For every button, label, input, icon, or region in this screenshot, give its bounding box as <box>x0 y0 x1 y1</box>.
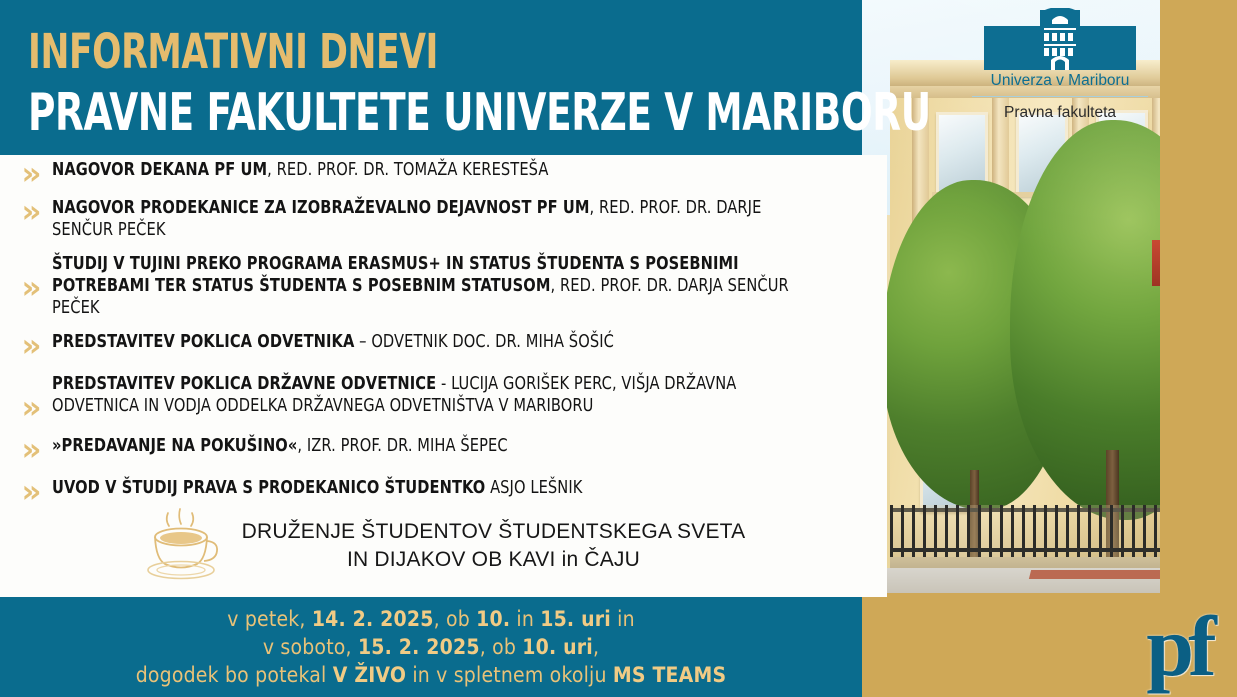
list-item: » ŠTUDIJ V TUJINI PREKO PROGRAMA ERASMUS… <box>0 253 887 319</box>
list-item: » PREDSTAVITEV POKLICA DRŽAVNE ODVETNICE… <box>0 373 887 423</box>
list-item: » NAGOVOR DEKANA PF UM, RED. PROF. DR. T… <box>0 159 887 189</box>
footer-line-1: v petek, 14. 2. 2025, ob 10. in 15. uri … <box>227 605 635 633</box>
list-item: » PREDSTAVITEV POKLICA ODVETNIKA – ODVET… <box>0 331 887 361</box>
list-item-bold: PREDSTAVITEV POKLICA DRŽAVNE ODVETNICE <box>52 374 436 394</box>
list-item-rest: , RED. PROF. DR. TOMAŽA KERESTEŠA <box>267 160 548 180</box>
list-item-text: PREDSTAVITEV POKLICA DRŽAVNE ODVETNICE -… <box>52 373 821 417</box>
university-building-mark <box>984 8 1136 70</box>
footer-date-saturday: 15. 2. 2025 <box>358 635 480 659</box>
university-name: Univerza v Mariboru <box>960 71 1160 91</box>
list-item: » NAGOVOR PRODEKANICE ZA IZOBRAŽEVALNO D… <box>0 197 887 241</box>
poster: INFORMATIVNI DNEVI PRAVNE FAKULTETE UNIV… <box>0 0 1237 697</box>
footer-live-label: V ŽIVO <box>333 663 406 687</box>
double-chevron-icon: » <box>8 331 52 361</box>
list-item-bold: NAGOVOR PRODEKANICE ZA IZOBRAŽEVALNO DEJ… <box>52 198 590 218</box>
program-list: » NAGOVOR DEKANA PF UM, RED. PROF. DR. T… <box>0 159 887 515</box>
list-item: » »PREDAVANJE NA POKUŠINO«, IZR. PROF. D… <box>0 435 887 465</box>
list-item: » UVOD V ŠTUDIJ PRAVA S PRODEKANICO ŠTUD… <box>0 477 887 507</box>
list-item-text: NAGOVOR PRODEKANICE ZA IZOBRAŽEVALNO DEJ… <box>52 197 821 241</box>
footer-time-10: 10. <box>476 607 510 631</box>
social-line-2: IN DIJAKOV OB KAVI in ČAJU <box>242 546 746 574</box>
university-logo: Univerza v Mariboru Pravna fakulteta <box>960 8 1160 130</box>
double-chevron-icon: » <box>8 477 52 507</box>
faculty-name: Pravna fakulteta <box>960 103 1160 122</box>
page-title-line1: INFORMATIVNI DNEVI <box>28 27 438 77</box>
social-line-1: DRUŽENJE ŠTUDENTOV ŠTUDENTSKEGA SVETA <box>242 518 746 546</box>
list-item-text: NAGOVOR DEKANA PF UM, RED. PROF. DR. TOM… <box>52 159 821 181</box>
list-item-bold: PREDSTAVITEV POKLICA ODVETNIKA <box>52 332 354 352</box>
header-banner: INFORMATIVNI DNEVI PRAVNE FAKULTETE UNIV… <box>0 0 862 155</box>
list-item-bold: UVOD V ŠTUDIJ PRAVA S PRODEKANICO ŠTUDEN… <box>52 478 485 498</box>
program-panel: » NAGOVOR DEKANA PF UM, RED. PROF. DR. T… <box>0 155 887 597</box>
footer-banner: v petek, 14. 2. 2025, ob 10. in 15. uri … <box>0 597 862 697</box>
page-title-line2: PRAVNE FAKULTETE UNIVERZE V MARIBORU <box>28 86 931 140</box>
footer-line-2: v soboto, 15. 2. 2025, ob 10. uri, <box>263 633 599 661</box>
footer-text: , <box>593 635 599 659</box>
list-item-text: ŠTUDIJ V TUJINI PREKO PROGRAMA ERASMUS+ … <box>52 253 821 319</box>
footer-time-10-sat: 10. uri <box>522 635 593 659</box>
social-gathering-block: DRUŽENJE ŠTUDENTOV ŠTUDENTSKEGA SVETA IN… <box>0 507 887 585</box>
footer-text: in v spletnem okolju <box>406 663 613 687</box>
list-item-rest: ASJO LEŠNIK <box>485 478 582 498</box>
double-chevron-icon: » <box>8 197 52 227</box>
footer-date-friday: 14. 2. 2025 <box>312 607 434 631</box>
list-item-bold: »PREDAVANJE NA POKUŠINO« <box>52 436 297 456</box>
list-item-rest: , IZR. PROF. DR. MIHA ŠEPEC <box>297 436 507 456</box>
gold-right-strip <box>1160 0 1237 593</box>
footer-line-3: dogodek bo potekal V ŽIVO in v spletnem … <box>136 661 727 689</box>
footer-text: , ob <box>434 607 477 631</box>
footer-text: v petek, <box>227 607 312 631</box>
footer-text: in <box>611 607 635 631</box>
footer-time-15: 15. uri <box>540 607 611 631</box>
pf-monogram-logo: pf <box>1120 596 1237 697</box>
double-chevron-icon: » <box>8 373 52 423</box>
double-chevron-icon: » <box>8 253 52 303</box>
footer-text: dogodek bo potekal <box>136 663 333 687</box>
footer-teams-label: MS TEAMS <box>613 663 726 687</box>
logo-divider <box>972 96 1148 97</box>
footer-text: , ob <box>480 635 523 659</box>
footer-text: in <box>510 607 540 631</box>
footer-text: v soboto, <box>263 635 358 659</box>
double-chevron-icon: » <box>8 435 52 465</box>
list-item-rest: – ODVETNIK DOC. DR. MIHA ŠOŠIĆ <box>354 332 614 352</box>
coffee-cup-icon <box>142 507 224 585</box>
double-chevron-icon: » <box>8 159 52 189</box>
list-item-bold: NAGOVOR DEKANA PF UM <box>52 160 267 180</box>
social-gathering-text: DRUŽENJE ŠTUDENTOV ŠTUDENTSKEGA SVETA IN… <box>242 518 746 574</box>
list-item-text: »PREDAVANJE NA POKUŠINO«, IZR. PROF. DR.… <box>52 435 821 457</box>
list-item-text: PREDSTAVITEV POKLICA ODVETNIKA – ODVETNI… <box>52 331 821 353</box>
list-item-text: UVOD V ŠTUDIJ PRAVA S PRODEKANICO ŠTUDEN… <box>52 477 821 499</box>
